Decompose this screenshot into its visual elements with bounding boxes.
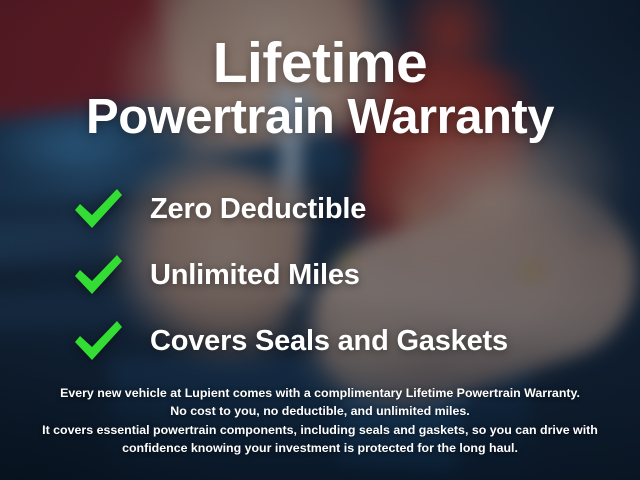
benefit-label: Unlimited Miles <box>150 259 360 292</box>
headline-line-2: Powertrain Warranty <box>0 92 640 142</box>
banner-content: Lifetime Powertrain Warranty Zero Deduct… <box>0 0 640 480</box>
green-check-icon <box>72 253 124 297</box>
fineprint-line-4: confidence knowing your investment is pr… <box>24 439 616 457</box>
benefit-item: Covers Seals and Gaskets <box>72 308 572 374</box>
benefit-item: Zero Deductible <box>72 176 572 242</box>
benefit-item: Unlimited Miles <box>72 242 572 308</box>
green-check-icon <box>72 187 124 231</box>
lifetime-powertrain-warranty-banner: Lifetime Powertrain Warranty Zero Deduct… <box>0 0 640 480</box>
fineprint-paragraph: Every new vehicle at Lupient comes with … <box>24 384 616 458</box>
fineprint-line-2: No cost to you, no deductible, and unlim… <box>24 402 616 420</box>
benefit-label: Zero Deductible <box>150 193 366 226</box>
benefit-label: Covers Seals and Gaskets <box>150 325 508 358</box>
benefits-list: Zero Deductible Unlimited Miles Covers S… <box>72 176 572 374</box>
fineprint-line-1: Every new vehicle at Lupient comes with … <box>24 384 616 402</box>
fineprint-line-3: It covers essential powertrain component… <box>24 421 616 439</box>
green-check-icon <box>72 319 124 363</box>
headline-line-1: Lifetime <box>0 34 640 92</box>
